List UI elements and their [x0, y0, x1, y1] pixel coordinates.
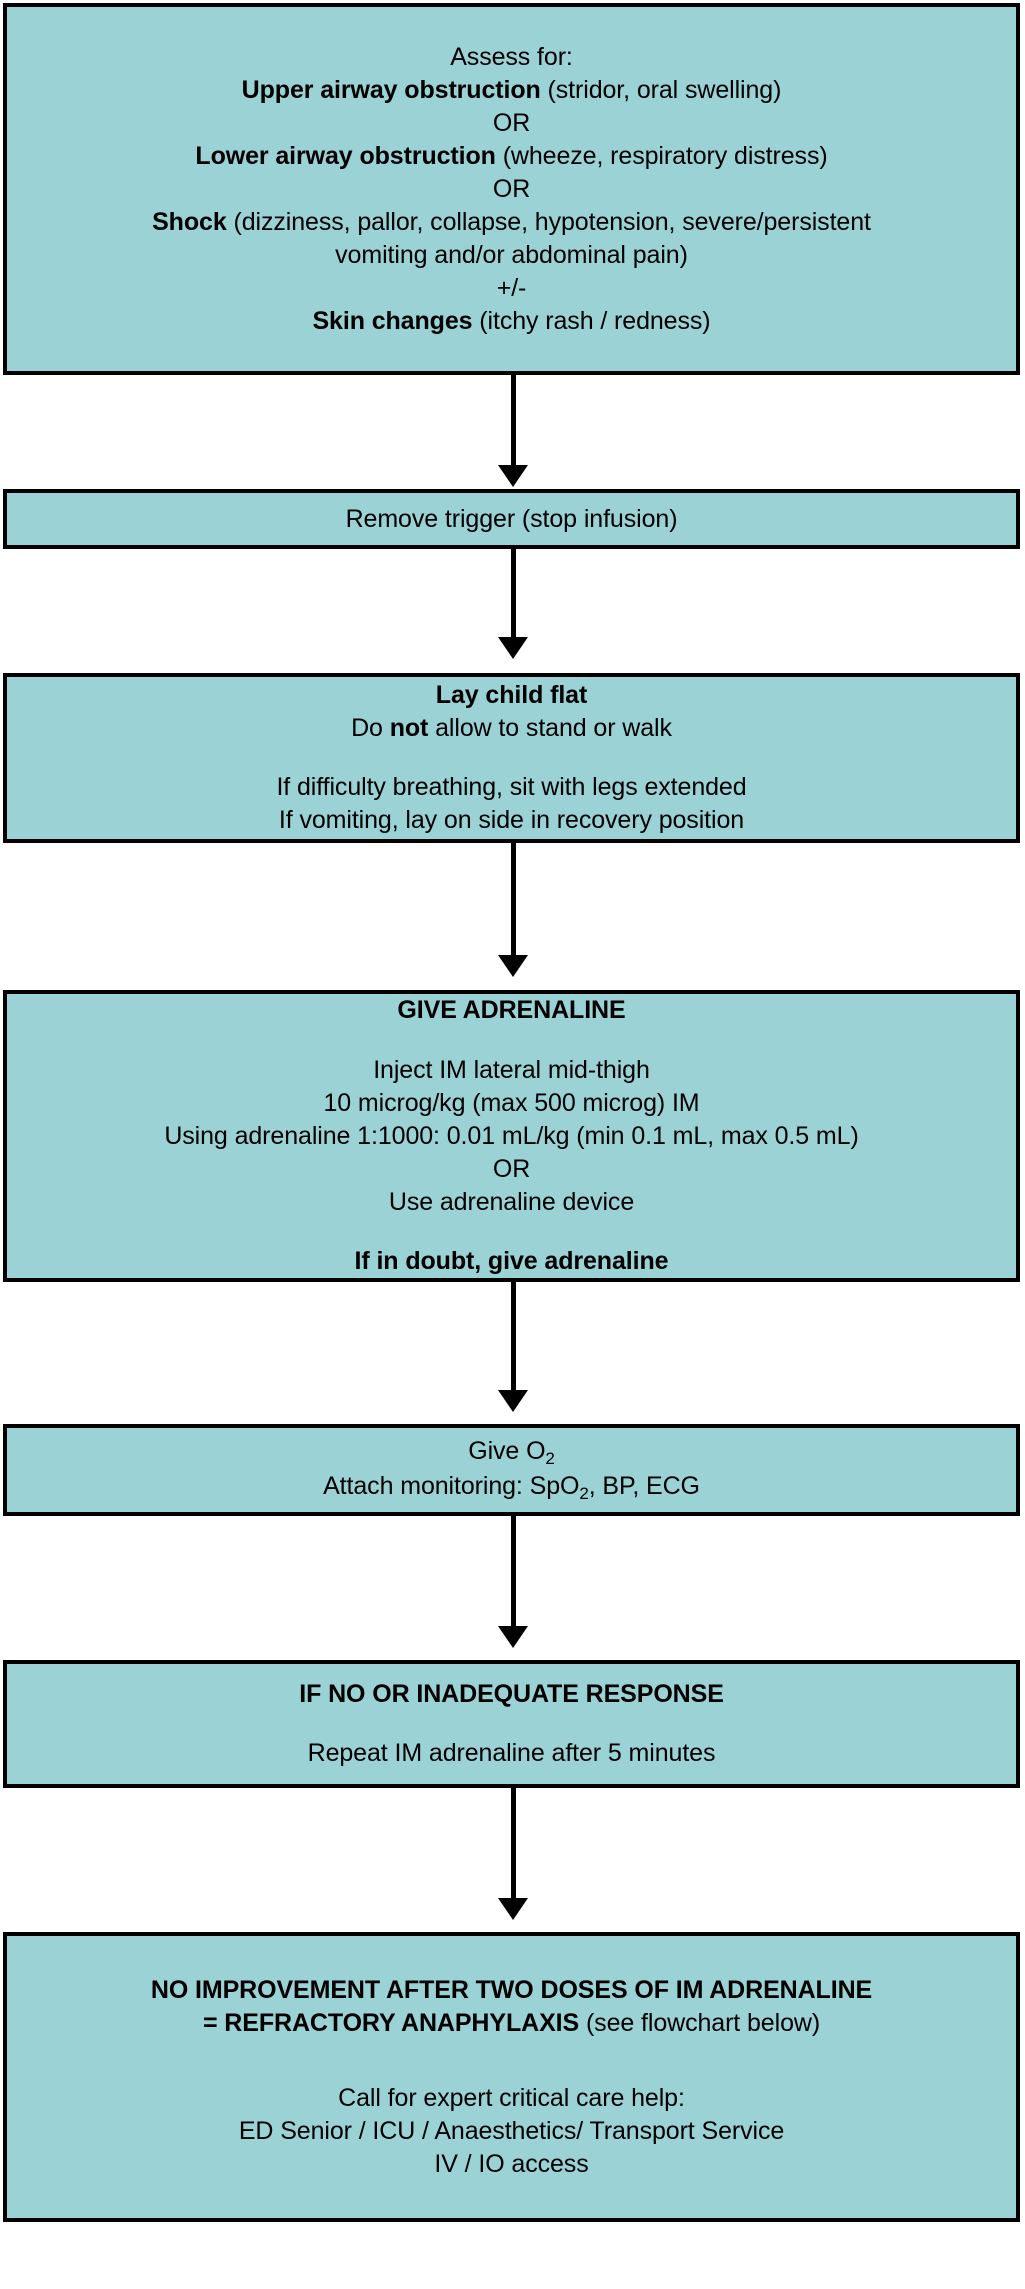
arrow-response-to-refractory-head [498, 1898, 528, 1920]
give-adrenaline-heading: GIVE ADRENALINE [397, 994, 625, 1027]
refractory-services: ED Senior / ICU / Anaesthetics/ Transpor… [239, 2115, 784, 2148]
flow-box-lay-child-flat: Lay child flat Do not allow to stand or … [3, 673, 1020, 843]
arrow-assess-to-remove-head [498, 465, 528, 487]
assess-lower-airway-rest: (wheeze, respiratory distress) [496, 142, 828, 170]
spo2-subscript: 2 [579, 1484, 588, 1503]
assess-skin-changes-rest: (itchy rash / redness) [472, 307, 710, 335]
give-adrenaline-dose: 10 microg/kg (max 500 microg) IM [323, 1087, 699, 1120]
flow-box-inadequate-response: IF NO OR INADEQUATE RESPONSE Repeat IM a… [3, 1660, 1020, 1788]
flowchart-page: Assess for: Upper airway obstruction (st… [0, 0, 1025, 2289]
flow-box-remove-trigger: Remove trigger (stop infusion) [3, 489, 1020, 549]
arrow-assess-to-remove-line [511, 375, 516, 465]
attach-monitoring-label: Attach monitoring: SpO2, BP, ECG [323, 1472, 700, 1500]
assess-or-2: OR [493, 173, 530, 206]
lay-child-flat-do-not-stand: Do not allow to stand or walk [351, 712, 672, 745]
attach-monitoring-line: Attach monitoring: SpO2, BP, ECG [323, 1470, 700, 1505]
oxygen-subscript: 2 [545, 1449, 554, 1468]
assess-shock-cont: vomiting and/or abdominal pain) [335, 239, 688, 272]
flow-box-give-adrenaline: GIVE ADRENALINE Inject IM lateral mid-th… [3, 990, 1020, 1282]
arrow-oxygen-to-response-head [498, 1626, 528, 1648]
lay-child-flat-pre: Do [351, 714, 390, 742]
refractory-access: IV / IO access [434, 2148, 588, 2181]
assess-upper-airway-bold: Upper airway obstruction [242, 76, 541, 104]
assess-plus-minus: +/- [497, 272, 527, 305]
lay-child-flat-vomiting: If vomiting, lay on side in recovery pos… [279, 804, 744, 837]
assess-lower-airway: Lower airway obstruction (wheeze, respir… [195, 140, 827, 173]
flow-box-assess: Assess for: Upper airway obstruction (st… [3, 3, 1020, 375]
refractory-no-improvement: NO IMPROVEMENT AFTER TWO DOSES OF IM ADR… [151, 1974, 872, 2007]
flow-box-give-oxygen: Give O2 Attach monitoring: SpO2, BP, ECG [3, 1424, 1020, 1516]
give-adrenaline-if-in-doubt: If in doubt, give adrenaline [355, 1245, 669, 1278]
assess-skin-changes: Skin changes (itchy rash / redness) [312, 305, 710, 338]
assess-skin-changes-bold: Skin changes [312, 307, 472, 335]
arrow-lay-to-adrenaline-head [498, 955, 528, 977]
give-adrenaline-inject: Inject IM lateral mid-thigh [373, 1054, 650, 1087]
lay-child-flat-heading: Lay child flat [436, 679, 587, 712]
arrow-adrenaline-to-oxygen-head [498, 1390, 528, 1412]
arrow-remove-to-lay-line [511, 549, 516, 637]
assess-shock-bold: Shock [152, 208, 227, 236]
remove-trigger-text: Remove trigger (stop infusion) [346, 503, 678, 536]
lay-child-flat-not-bold: not [390, 714, 429, 742]
refractory-anaphylaxis-rest: (see flowchart below) [579, 2009, 820, 2037]
assess-shock-rest: (dizziness, pallor, collapse, hypotensio… [227, 208, 871, 236]
lay-child-flat-rest: allow to stand or walk [428, 714, 672, 742]
refractory-call-help: Call for expert critical care help: [338, 2082, 685, 2115]
assess-heading: Assess for: [450, 41, 573, 74]
arrow-response-to-refractory-line [511, 1788, 516, 1898]
flow-box-refractory-anaphylaxis: NO IMPROVEMENT AFTER TWO DOSES OF IM ADR… [3, 1932, 1020, 2222]
inadequate-response-repeat: Repeat IM adrenaline after 5 minutes [308, 1737, 716, 1770]
assess-upper-airway-rest: (stridor, oral swelling) [541, 76, 782, 104]
give-oxygen-line: Give O2 [468, 1435, 555, 1470]
assess-upper-airway: Upper airway obstruction (stridor, oral … [242, 74, 782, 107]
give-adrenaline-dilution: Using adrenaline 1:1000: 0.01 mL/kg (min… [164, 1120, 858, 1153]
give-adrenaline-device: Use adrenaline device [389, 1186, 634, 1219]
give-adrenaline-or: OR [493, 1153, 530, 1186]
assess-shock: Shock (dizziness, pallor, collapse, hypo… [152, 206, 871, 239]
refractory-anaphylaxis-bold: = REFRACTORY ANAPHYLAXIS [203, 2009, 579, 2037]
arrow-adrenaline-to-oxygen-line [511, 1282, 516, 1390]
arrow-lay-to-adrenaline-line [511, 843, 516, 955]
arrow-oxygen-to-response-line [511, 1516, 516, 1626]
assess-lower-airway-bold: Lower airway obstruction [195, 142, 495, 170]
lay-child-flat-breathing: If difficulty breathing, sit with legs e… [276, 771, 746, 804]
inadequate-response-heading: IF NO OR INADEQUATE RESPONSE [299, 1678, 724, 1711]
arrow-remove-to-lay-head [498, 637, 528, 659]
assess-or-1: OR [493, 107, 530, 140]
give-oxygen-label: Give O2 [468, 1437, 555, 1465]
refractory-anaphylaxis-line: = REFRACTORY ANAPHYLAXIS (see flowchart … [203, 2007, 820, 2040]
